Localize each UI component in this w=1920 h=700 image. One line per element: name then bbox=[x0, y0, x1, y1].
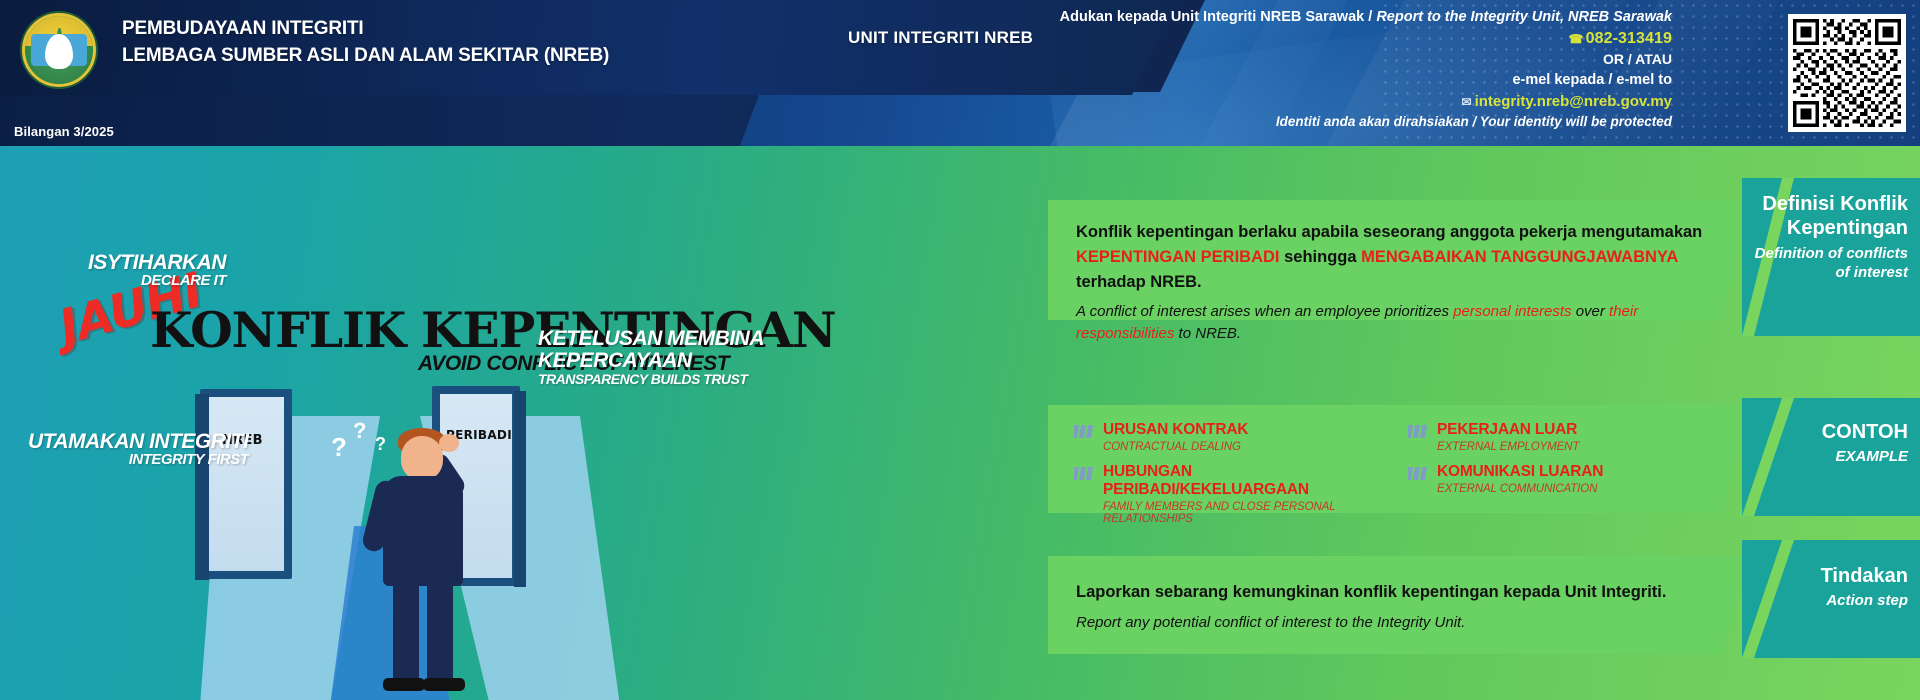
panel-definition-ms: Konflik kepentingan berlaku apabila sese… bbox=[1076, 220, 1720, 294]
header-organisation-title: PEMBUDAYAAN INTEGRITI LEMBAGA SUMBER ASL… bbox=[122, 16, 609, 70]
definition-en-part-4: to NREB. bbox=[1174, 325, 1241, 342]
chevrons-icon-svg bbox=[1074, 467, 1094, 480]
chevrons-icon-svg bbox=[1074, 425, 1094, 438]
question-mark-2: ? bbox=[353, 418, 366, 444]
hero-illustration: NREB PERIBADI ? ? ? JAUHI KONFL bbox=[0, 146, 1050, 700]
contact-report-en: Report to the Integrity Unit, NREB Saraw… bbox=[1376, 9, 1672, 25]
definition-ms-part-3: MENGABAIKAN TANGGUNGJAWABNYA bbox=[1361, 248, 1678, 266]
definition-ms-part-0: Konflik kepentingan berlaku apabila sese… bbox=[1076, 223, 1702, 241]
chevrons-icon bbox=[1074, 425, 1094, 438]
contact-report-ms: Adukan kepada Unit Integriti NREB Sarawa… bbox=[1060, 9, 1365, 25]
contact-protected-note: Identiti anda akan dirahsiakan / Your id… bbox=[972, 112, 1672, 131]
hero-label-transparency-ms: KETELUSAN MEMBINA KEPERCAYAAN bbox=[538, 328, 768, 372]
chevrons-icon bbox=[1408, 425, 1428, 438]
example-item-ms: PEKERJAAN LUAR bbox=[1437, 421, 1577, 438]
header-title-line1: PEMBUDAYAAN INTEGRITI bbox=[122, 16, 609, 43]
panel-action-text: Laporkan sebarang kemungkinan konflik ke… bbox=[1048, 556, 1748, 654]
door-nreb-open-leaf bbox=[195, 394, 209, 580]
definition-en-part-0: A conflict of interest arises when an em… bbox=[1076, 303, 1453, 320]
chevrons-icon-svg bbox=[1408, 425, 1428, 438]
envelope-icon: ✉ bbox=[1462, 95, 1472, 109]
hero-label-transparency-en: TRANSPARENCY BUILDS TRUST bbox=[538, 372, 768, 386]
example-item: KOMUNIKASI LUARAN EXTERNAL COMMUNICATION bbox=[1408, 463, 1722, 525]
panel-examples-card: URUSAN KONTRAK CONTRACTUAL DEALING PEKER… bbox=[1048, 405, 1748, 513]
door-peribadi-open-leaf bbox=[514, 391, 526, 587]
tab-action-en: Action step bbox=[1742, 592, 1908, 611]
hero-label-declare-en: DECLARE IT bbox=[88, 273, 226, 288]
example-item-en: CONTRACTUAL DEALING bbox=[1103, 441, 1248, 453]
chevrons-icon bbox=[1408, 467, 1428, 480]
hero-label-integrity-ms: UTAMAKAN INTEGRITI bbox=[28, 431, 248, 452]
tab-examples-en: EXAMPLE bbox=[1742, 448, 1908, 467]
chevrons-icon bbox=[1074, 467, 1094, 480]
tab-definition: Definisi Konflik Kepentingan Definition … bbox=[1742, 178, 1920, 336]
example-item: PEKERJAAN LUAR EXTERNAL EMPLOYMENT bbox=[1408, 421, 1722, 453]
header-contact-block: Adukan kepada Unit Integriti NREB Sarawa… bbox=[972, 7, 1672, 131]
question-mark-1: ? bbox=[331, 432, 347, 463]
examples-grid: URUSAN KONTRAK CONTRACTUAL DEALING PEKER… bbox=[1048, 405, 1748, 539]
header-title-line2: LEMBAGA SUMBER ASLI DAN ALAM SEKITAR (NR… bbox=[122, 43, 609, 70]
tab-action: Tindakan Action step bbox=[1742, 540, 1920, 658]
example-item-ms: KOMUNIKASI LUARAN bbox=[1437, 463, 1603, 480]
hero-label-integrity: UTAMAKAN INTEGRITI INTEGRITY FIRST bbox=[28, 431, 248, 467]
definition-ms-part-4: terhadap NREB. bbox=[1076, 273, 1202, 291]
contact-separator: / bbox=[1364, 9, 1376, 25]
door-nreb[interactable]: NREB bbox=[200, 389, 292, 579]
panel-definition-en: A conflict of interest arises when an em… bbox=[1076, 301, 1720, 345]
issue-number-label: Bilangan 3/2025 bbox=[14, 124, 114, 139]
tab-action-ms: Tindakan bbox=[1742, 564, 1908, 588]
panel-action-ms: Laporkan sebarang kemungkinan konflik ke… bbox=[1076, 580, 1720, 605]
tab-examples-ms: CONTOH bbox=[1742, 420, 1908, 444]
contact-or-label: OR / ATAU bbox=[972, 50, 1672, 70]
contact-email-address[interactable]: integrity.nreb@nreb.gov.my bbox=[1475, 93, 1672, 110]
panel-action-card: Laporkan sebarang kemungkinan konflik ke… bbox=[1048, 556, 1748, 654]
confused-person-illustration: ? ? ? bbox=[355, 426, 495, 696]
tab-definition-ms: Definisi Konflik Kepentingan bbox=[1742, 192, 1908, 241]
definition-en-part-2: over bbox=[1572, 303, 1610, 320]
panel-definition-text: Konflik kepentingan berlaku apabila sese… bbox=[1048, 200, 1748, 365]
qr-code[interactable] bbox=[1788, 14, 1906, 132]
example-item-en: EXTERNAL EMPLOYMENT bbox=[1437, 441, 1579, 453]
contact-phone-line[interactable]: ☎082-313419 bbox=[972, 28, 1672, 51]
hero-label-transparency: KETELUSAN MEMBINA KEPERCAYAAN TRANSPAREN… bbox=[538, 328, 768, 386]
example-item-en: FAMILY MEMBERS AND CLOSE PERSONAL RELATI… bbox=[1103, 501, 1388, 525]
nreb-crest-logo bbox=[22, 13, 96, 87]
chevrons-icon-svg bbox=[1408, 467, 1428, 480]
example-item-ms: URUSAN KONTRAK bbox=[1103, 421, 1248, 438]
hero-label-declare-ms: ISYTIHARKAN bbox=[88, 252, 226, 273]
definition-ms-part-1: KEPENTINGAN PERIBADI bbox=[1076, 248, 1280, 266]
tab-examples: CONTOH EXAMPLE bbox=[1742, 398, 1920, 516]
qr-code-icon bbox=[1793, 19, 1901, 127]
phone-icon: ☎ bbox=[1569, 32, 1584, 46]
poster-root: PEMBUDAYAAN INTEGRITI LEMBAGA SUMBER ASL… bbox=[0, 0, 1920, 700]
hero-label-integrity-en: INTEGRITY FIRST bbox=[28, 452, 248, 467]
example-item: HUBUNGAN PERIBADI/KEKELUARGAAN FAMILY ME… bbox=[1074, 463, 1388, 525]
example-item-en: EXTERNAL COMMUNICATION bbox=[1437, 483, 1603, 495]
contact-phone-number[interactable]: 082-313419 bbox=[1586, 30, 1672, 47]
panel-definition-card: Konflik kepentingan berlaku apabila sese… bbox=[1048, 200, 1748, 320]
question-mark-3: ? bbox=[375, 434, 386, 455]
definition-en-part-1: personal interests bbox=[1453, 303, 1571, 320]
contact-email-label: e-mel kepada / e-mel to bbox=[972, 70, 1672, 91]
definition-ms-part-2: sehingga bbox=[1280, 248, 1362, 266]
example-item: URUSAN KONTRAK CONTRACTUAL DEALING bbox=[1074, 421, 1388, 453]
poster-header: PEMBUDAYAAN INTEGRITI LEMBAGA SUMBER ASL… bbox=[0, 0, 1920, 146]
hero-label-declare: ISYTIHARKAN DECLARE IT bbox=[88, 252, 226, 288]
contact-email-line[interactable]: ✉integrity.nreb@nreb.gov.my bbox=[972, 91, 1672, 112]
tab-definition-en: Definition of conflicts of interest bbox=[1742, 245, 1908, 283]
panel-action-en: Report any potential conflict of interes… bbox=[1076, 612, 1720, 634]
contact-report-line: Adukan kepada Unit Integriti NREB Sarawa… bbox=[972, 7, 1672, 28]
example-item-ms: HUBUNGAN PERIBADI/KEKELUARGAAN bbox=[1103, 463, 1309, 498]
